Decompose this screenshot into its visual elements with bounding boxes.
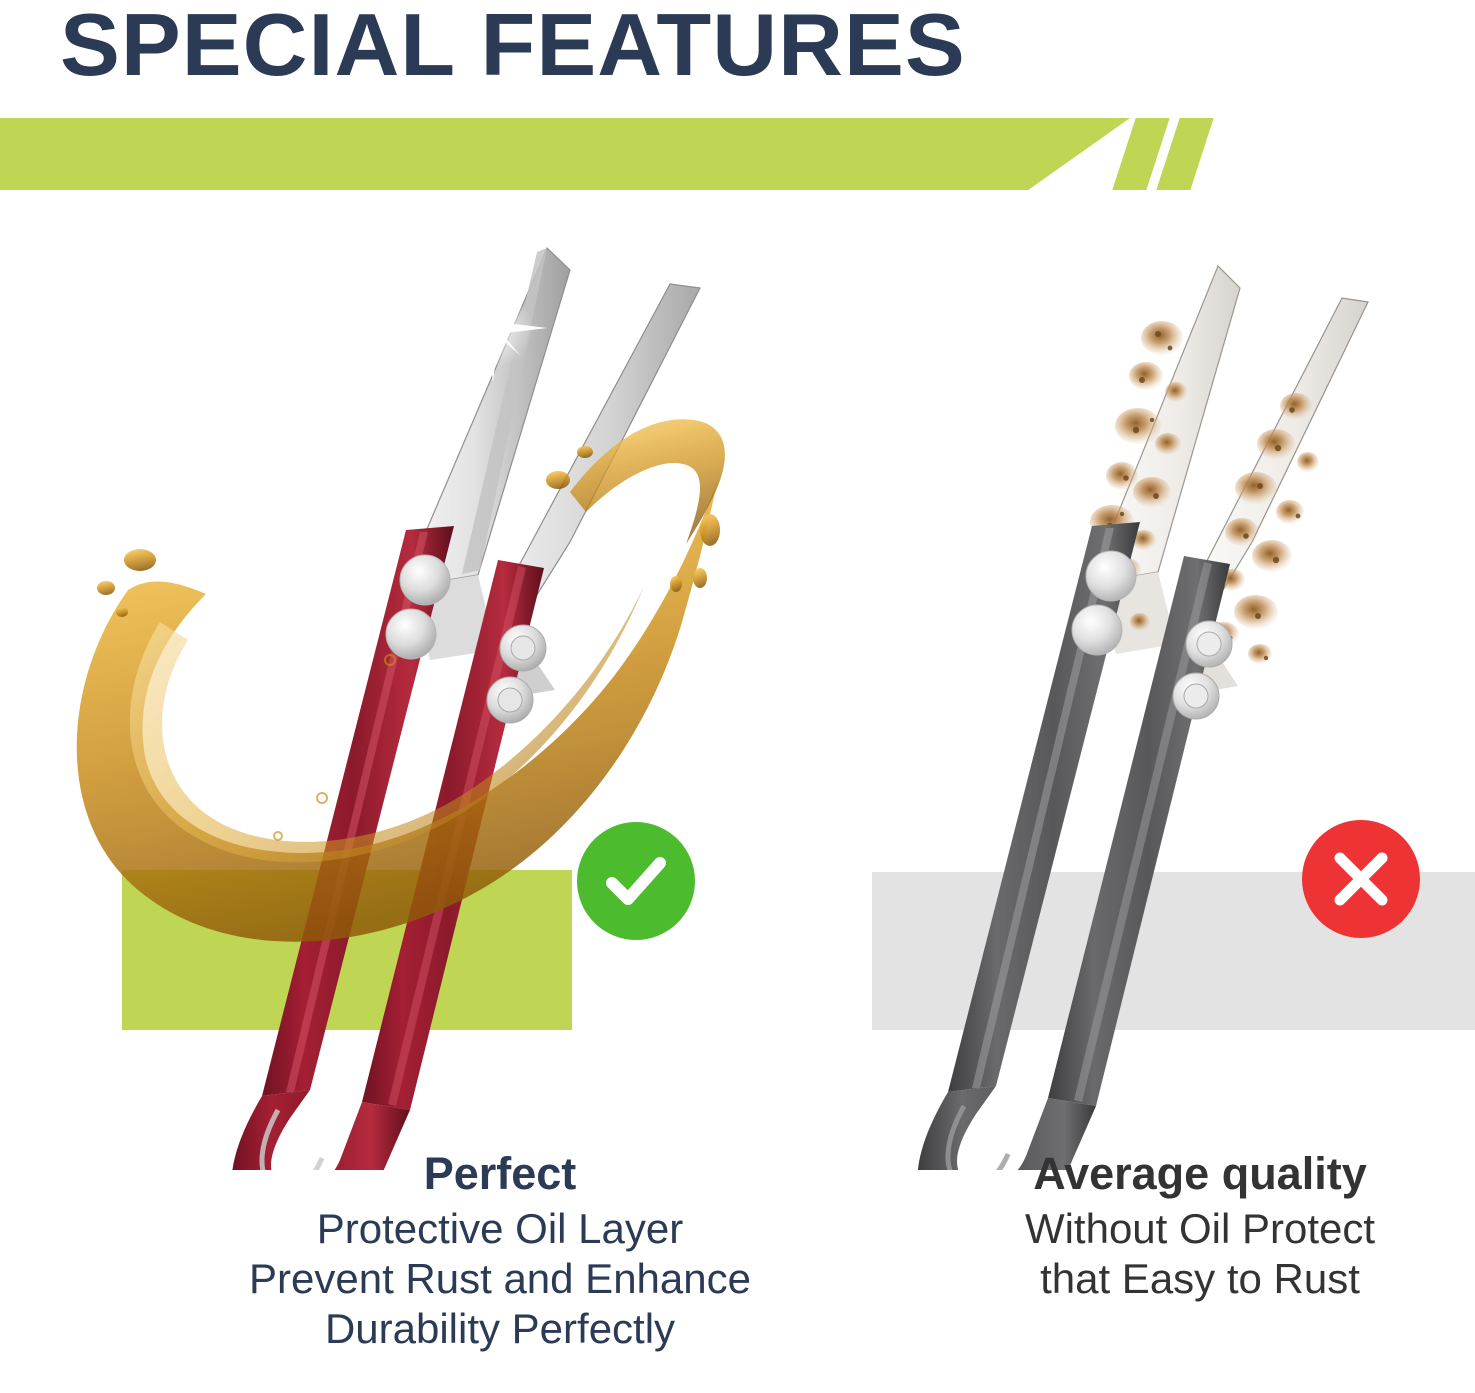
x-mark-icon [1326, 844, 1396, 914]
bad-caption-line-2: that Easy to Rust [940, 1254, 1460, 1304]
thread-snip-scissors-red-illustration [10, 230, 730, 1170]
check-circle-icon [577, 822, 695, 940]
header-banner [0, 118, 1475, 190]
check-mark-icon [598, 843, 674, 919]
scissor-body-gray [917, 266, 1368, 1170]
banner-main-shape [0, 118, 1130, 190]
infographic-page: SPECIAL FEATURES [0, 0, 1475, 1393]
bad-caption-line-1: Without Oil Protect [940, 1204, 1460, 1254]
page-title: SPECIAL FEATURES [60, 2, 1141, 88]
thread-snip-scissors-gray-illustration [900, 230, 1475, 1170]
good-caption-line-1: Protective Oil Layer [150, 1204, 850, 1254]
bad-caption-heading: Average quality [940, 1148, 1460, 1200]
good-caption-line-3: Durability Perfectly [150, 1304, 850, 1354]
good-caption-line-2: Prevent Rust and Enhance [150, 1254, 850, 1304]
good-product-image [10, 230, 730, 1170]
bad-product-image [900, 230, 1475, 1170]
good-product-caption: Perfect Protective Oil Layer Prevent Rus… [150, 1148, 850, 1354]
cross-circle-icon [1302, 820, 1420, 938]
bad-product-caption: Average quality Without Oil Protect that… [940, 1148, 1460, 1304]
good-caption-heading: Perfect [150, 1148, 850, 1200]
